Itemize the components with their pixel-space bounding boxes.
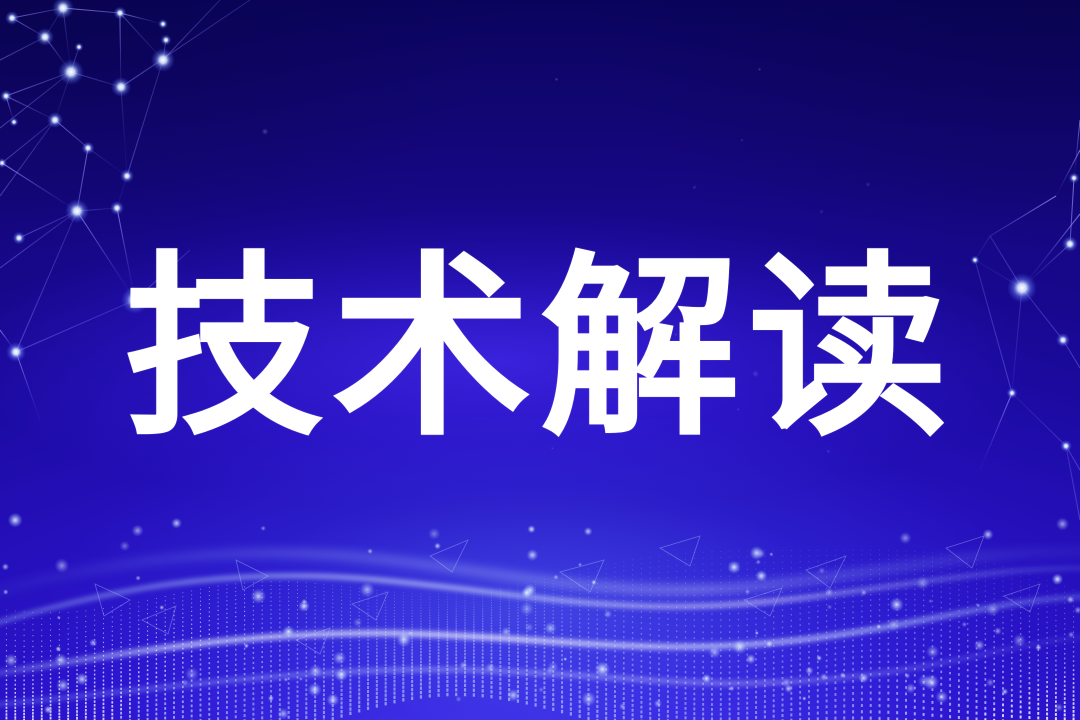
banner-title-container: 技术解读	[0, 243, 1080, 455]
banner-title: 技术解读	[124, 251, 956, 447]
banner-root: 技术解读	[0, 0, 1080, 720]
